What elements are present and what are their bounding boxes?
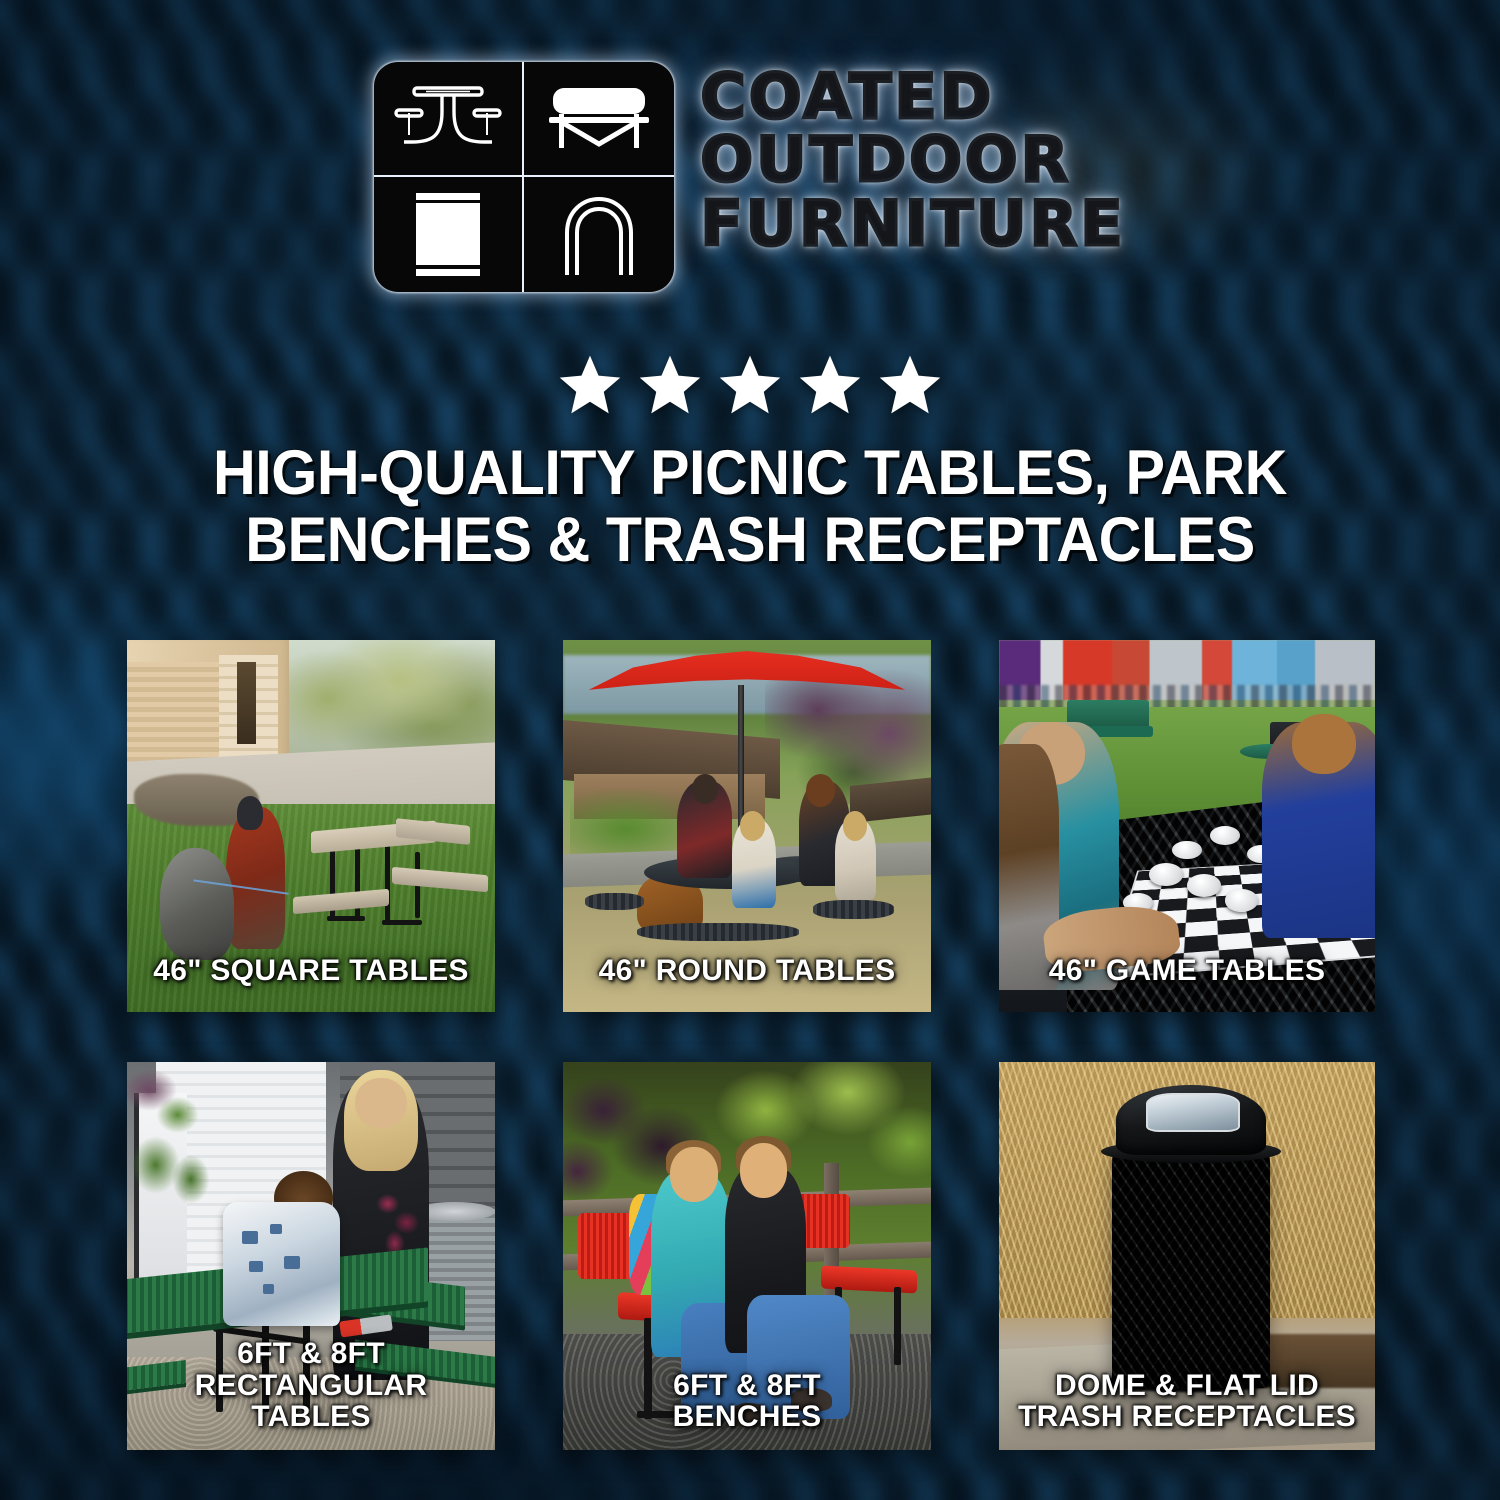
star-icon xyxy=(637,352,703,418)
caption-line-2: RECTANGULAR TABLES xyxy=(135,1370,487,1432)
brand-wordmark: COATED OUTDOOR FURNITURE xyxy=(700,62,1125,254)
trash-receptacle-icon xyxy=(374,177,524,292)
star-rating xyxy=(0,352,1500,418)
product-grid: 46" SQUARE TABLES 46" ROUND TABLES xyxy=(127,640,1375,1450)
brand-header: COATED OUTDOOR FURNITURE xyxy=(0,62,1500,292)
product-caption-rectangular-tables: 6FT & 8FT RECTANGULAR TABLES xyxy=(127,1338,495,1432)
star-icon xyxy=(797,352,863,418)
page-headline: HIGH-QUALITY PICNIC TABLES, PARK BENCHES… xyxy=(45,440,1455,574)
headline-line-1: HIGH-QUALITY PICNIC TABLES, PARK xyxy=(120,440,1380,507)
picnic-table-icon xyxy=(374,62,524,177)
caption-line-1: 46" ROUND TABLES xyxy=(571,955,923,986)
poster-canvas: COATED OUTDOOR FURNITURE HIGH-QUALITY PI… xyxy=(0,0,1500,1500)
caption-line-2: BENCHES xyxy=(571,1401,923,1432)
caption-line-1: 6FT & 8FT xyxy=(571,1370,923,1401)
product-caption-square-tables: 46" SQUARE TABLES xyxy=(127,955,495,986)
headline-line-2: BENCHES & TRASH RECEPTACLES xyxy=(120,507,1380,574)
product-tile-square-tables[interactable]: 46" SQUARE TABLES xyxy=(127,640,495,1012)
caption-line-1: 46" GAME TABLES xyxy=(1007,955,1367,986)
product-tile-game-tables[interactable]: 46" GAME TABLES xyxy=(999,640,1375,1012)
star-icon xyxy=(717,352,783,418)
bench-icon xyxy=(524,62,674,177)
caption-line-1: DOME & FLAT LID xyxy=(1007,1370,1367,1401)
caption-line-1: 46" SQUARE TABLES xyxy=(135,955,487,986)
star-icon xyxy=(557,352,623,418)
product-tile-rectangular-tables[interactable]: 6FT & 8FT RECTANGULAR TABLES xyxy=(127,1062,495,1450)
product-tile-trash-receptacles[interactable]: DOME & FLAT LID TRASH RECEPTACLES xyxy=(999,1062,1375,1450)
star-icon xyxy=(877,352,943,418)
product-tile-benches[interactable]: 6FT & 8FT BENCHES xyxy=(563,1062,931,1450)
bike-rack-icon xyxy=(524,177,674,292)
product-tile-round-tables[interactable]: 46" ROUND TABLES xyxy=(563,640,931,1012)
product-caption-benches: 6FT & 8FT BENCHES xyxy=(563,1370,931,1432)
caption-line-2: TRASH RECEPTACLES xyxy=(1007,1401,1367,1432)
brand-line-2: OUTDOOR xyxy=(700,129,1125,190)
brand-logo-mark xyxy=(374,62,674,292)
product-caption-trash-receptacles: DOME & FLAT LID TRASH RECEPTACLES xyxy=(999,1370,1375,1432)
brand-line-3: FURNITURE xyxy=(700,193,1125,254)
caption-line-1: 6FT & 8FT xyxy=(135,1338,487,1369)
product-caption-game-tables: 46" GAME TABLES xyxy=(999,955,1375,986)
product-caption-round-tables: 46" ROUND TABLES xyxy=(563,955,931,986)
brand-line-1: COATED xyxy=(700,66,1125,127)
